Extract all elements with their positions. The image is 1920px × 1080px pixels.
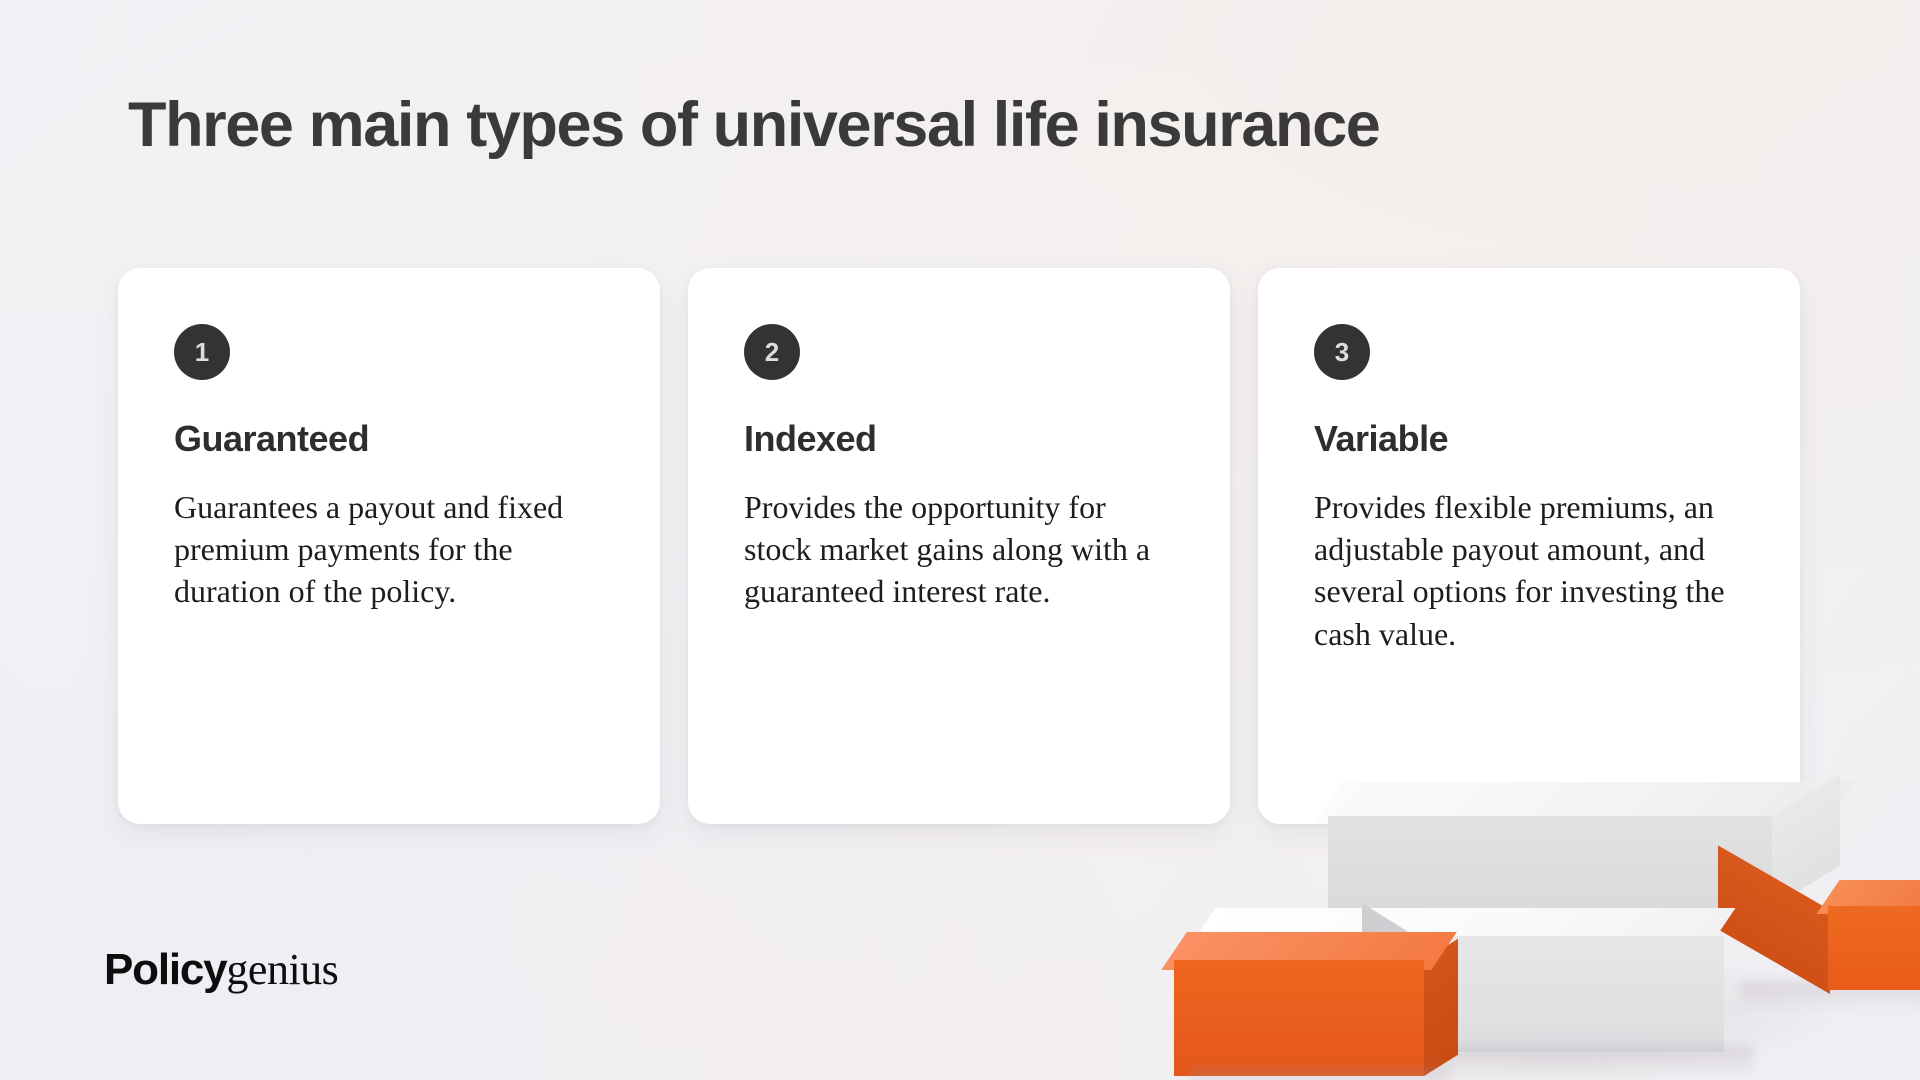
card-heading-1: Guaranteed <box>174 418 608 460</box>
page-title: Three main types of universal life insur… <box>128 92 1828 159</box>
card-body-2: Provides the opportunity for stock marke… <box>744 486 1174 613</box>
orange-right-block-front <box>1828 906 1920 990</box>
gray-back-block-front <box>1328 816 1772 908</box>
card-guaranteed: 1 Guaranteed Guarantees a payout and fix… <box>118 268 660 824</box>
blocks-illustration <box>1180 760 1920 1080</box>
policygenius-logo: Policygenius <box>104 948 338 992</box>
orange-front-block-front <box>1174 960 1424 1076</box>
logo-genius-text: genius <box>226 945 338 994</box>
card-number-badge-3: 3 <box>1314 324 1370 380</box>
card-number-badge-1: 1 <box>174 324 230 380</box>
orange-front-shadow <box>1190 1068 1450 1080</box>
logo-policy-text: Policy <box>104 945 226 994</box>
card-body-1: Guarantees a payout and fixed premium pa… <box>174 486 604 613</box>
cards-container: 1 Guaranteed Guarantees a payout and fix… <box>118 268 1800 824</box>
card-variable: 3 Variable Provides flexible premiums, a… <box>1258 268 1800 824</box>
card-heading-3: Variable <box>1314 418 1748 460</box>
card-heading-2: Indexed <box>744 418 1178 460</box>
card-indexed: 2 Indexed Provides the opportunity for s… <box>688 268 1230 824</box>
white-center-shadow <box>1424 1046 1754 1080</box>
card-number-badge-2: 2 <box>744 324 800 380</box>
card-body-3: Provides flexible premiums, an adjustabl… <box>1314 486 1744 655</box>
